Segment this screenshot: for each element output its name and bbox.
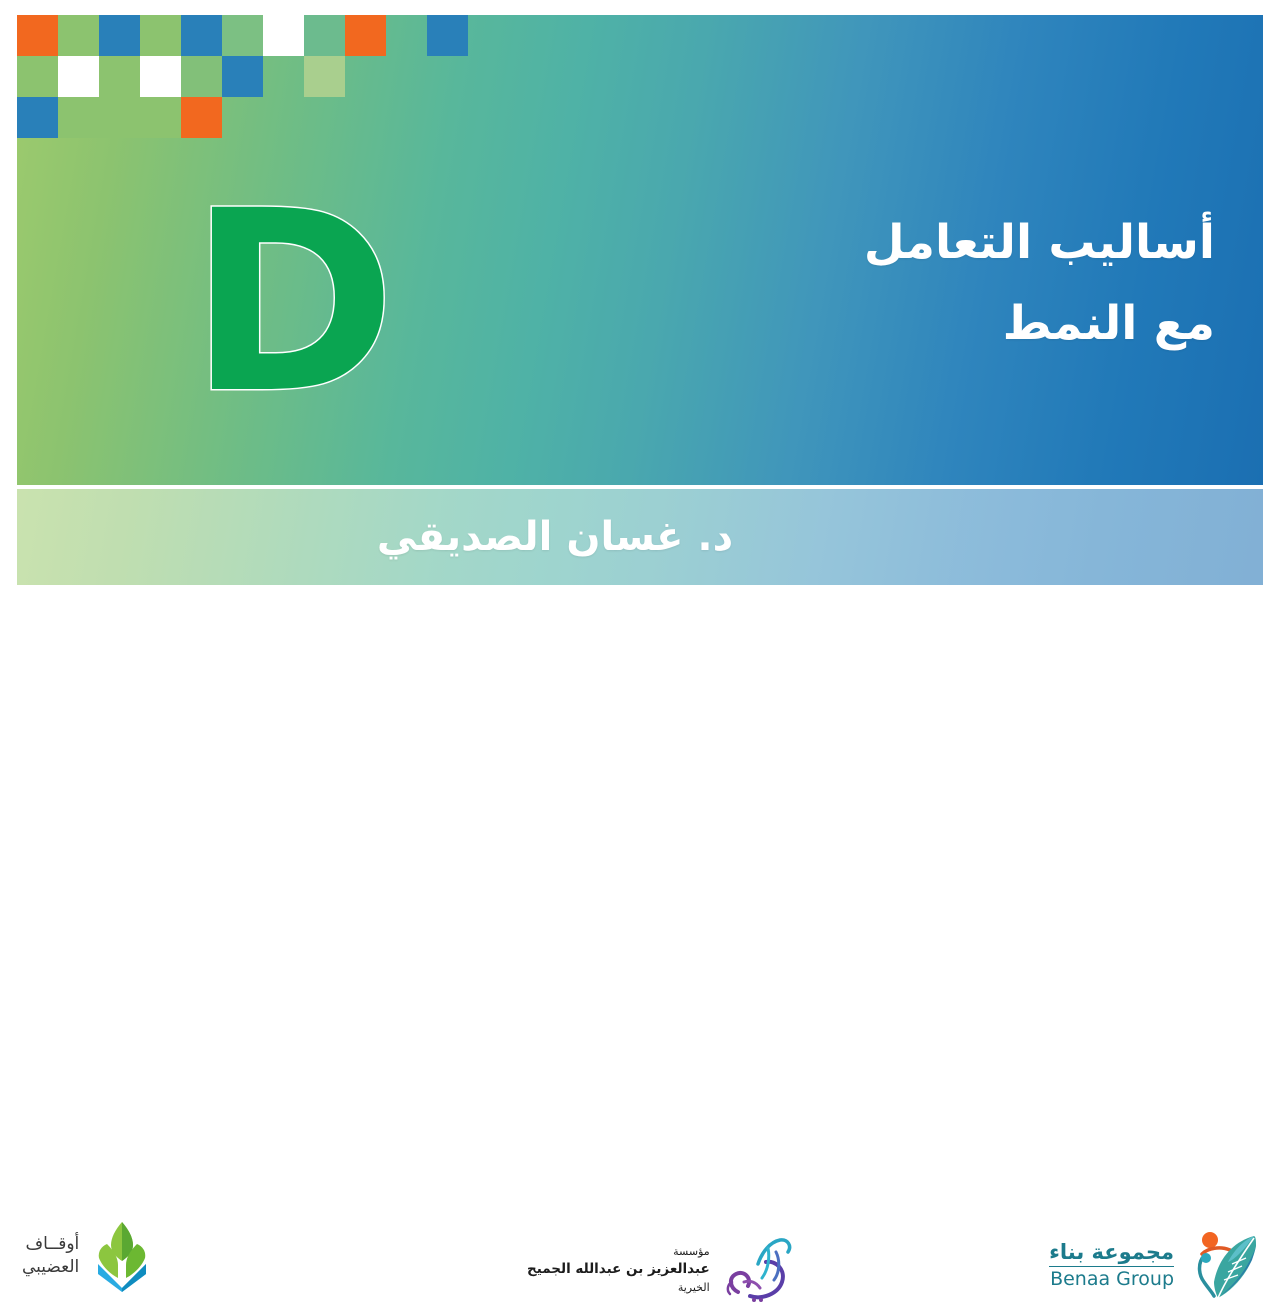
letter-badge-d: D bbox=[189, 200, 359, 405]
mosaic-tile bbox=[304, 15, 345, 56]
mosaic-tile bbox=[140, 97, 181, 138]
logo-awqaf-line-1: أوقــاف bbox=[22, 1233, 79, 1256]
mosaic-tile bbox=[181, 15, 222, 56]
logo-aljomaih-foundation: مؤسسة عبدالعزيز بن عبدالله الجميح الخيري… bbox=[527, 1234, 796, 1306]
mosaic-tile bbox=[140, 56, 181, 97]
mosaic-tile bbox=[345, 15, 386, 56]
mosaic-tile bbox=[17, 56, 58, 97]
feather-person-icon bbox=[1184, 1230, 1262, 1300]
mosaic-tile bbox=[58, 56, 99, 97]
logo-benaa-english: Benaa Group bbox=[1049, 1266, 1174, 1292]
title-line-1: أساليب التعامل bbox=[595, 203, 1215, 284]
mosaic-decoration bbox=[17, 15, 477, 147]
mosaic-tile bbox=[222, 15, 263, 56]
mosaic-tile bbox=[58, 15, 99, 56]
mosaic-tile bbox=[181, 97, 222, 138]
mosaic-tile bbox=[181, 56, 222, 97]
arabic-calligraphy-icon bbox=[718, 1234, 796, 1306]
logo-awqaf-label: أوقــاف العضيبي bbox=[22, 1233, 79, 1279]
mosaic-tile bbox=[140, 15, 181, 56]
mosaic-tile bbox=[99, 97, 140, 138]
logo-aljomaih-line-1: مؤسسة bbox=[527, 1244, 710, 1260]
mosaic-tile bbox=[99, 15, 140, 56]
slide-root: D أساليب التعامل مع النمط د. غسان الصديق… bbox=[0, 0, 1280, 720]
logo-awqaf-line-2: العضيبي bbox=[22, 1256, 79, 1279]
logo-aljomaih-line-2: عبدالعزيز بن عبدالله الجميح bbox=[527, 1260, 710, 1280]
footer-logos: أوقــاف العضيبي مؤسسة عبدالعزيز بن عبدال… bbox=[0, 600, 1280, 720]
presenter-name: د. غسان الصديقي bbox=[17, 489, 1263, 585]
logo-awqaf-aludaibi: أوقــاف العضيبي bbox=[22, 1220, 151, 1292]
logo-aljomaih-line-3: الخيرية bbox=[527, 1280, 710, 1296]
logo-benaa-label: مجموعة بناء Benaa Group bbox=[1049, 1239, 1174, 1292]
wheat-leaf-icon bbox=[93, 1220, 151, 1292]
mosaic-tile bbox=[17, 97, 58, 138]
hero-panel: D أساليب التعامل مع النمط bbox=[17, 15, 1263, 485]
title-line-2: مع النمط bbox=[595, 284, 1215, 365]
mosaic-tile bbox=[58, 97, 99, 138]
mosaic-tile bbox=[263, 15, 304, 56]
logo-aljomaih-label: مؤسسة عبدالعزيز بن عبدالله الجميح الخيري… bbox=[527, 1244, 710, 1295]
logo-benaa-group: مجموعة بناء Benaa Group bbox=[1049, 1230, 1262, 1300]
mosaic-tile bbox=[304, 56, 345, 97]
mosaic-tile bbox=[222, 56, 263, 97]
mosaic-tile bbox=[427, 15, 468, 56]
logo-benaa-arabic: مجموعة بناء bbox=[1049, 1239, 1174, 1265]
mosaic-tile bbox=[99, 56, 140, 97]
page-title: أساليب التعامل مع النمط bbox=[595, 203, 1215, 365]
mosaic-tile bbox=[17, 15, 58, 56]
